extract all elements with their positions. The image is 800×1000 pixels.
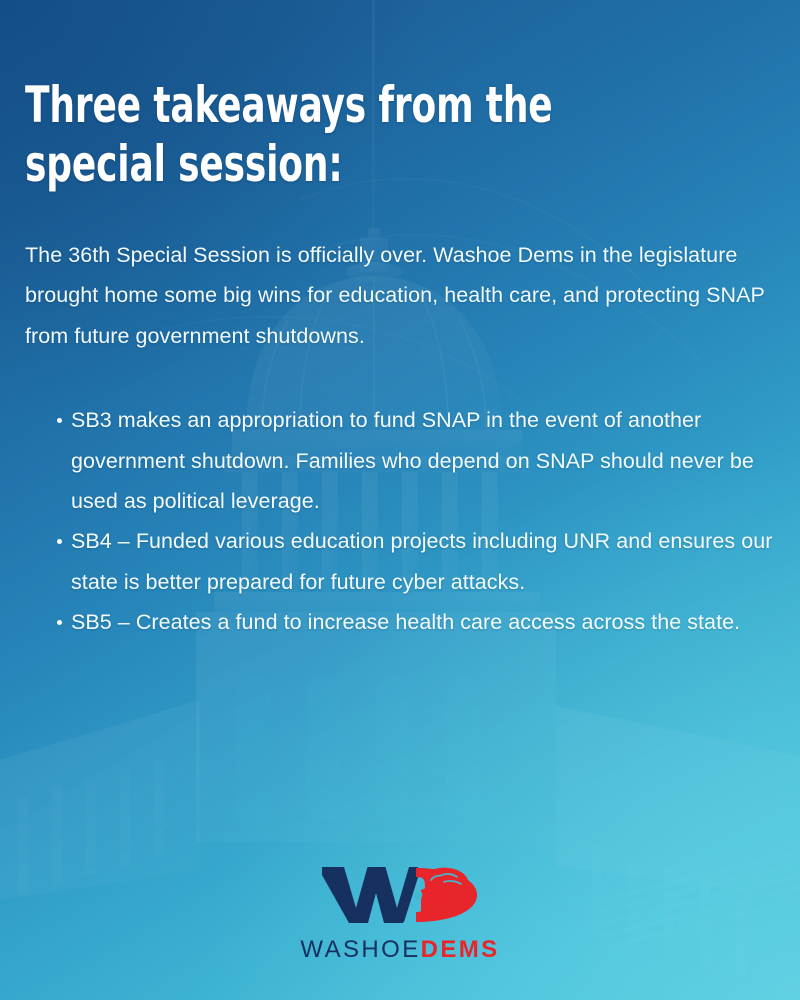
logo-wordmark-dems: DEMS <box>421 936 500 963</box>
washoe-dems-logo: WASHOEDEMS <box>0 860 800 962</box>
logo-wordmark: WASHOEDEMS <box>300 938 499 962</box>
wd-fist-icon <box>318 860 483 930</box>
poster-content: Three takeaways from the special session… <box>0 0 800 643</box>
list-item: SB3 makes an appropriation to fund SNAP … <box>25 400 775 521</box>
page-title: Three takeaways from the special session… <box>25 0 775 193</box>
takeaways-list: SB3 makes an appropriation to fund SNAP … <box>25 356 775 642</box>
list-item: SB4 – Funded various education projects … <box>25 521 775 602</box>
logo-wordmark-washoe: WASHOE <box>300 936 420 963</box>
list-item: SB5 – Creates a fund to increase health … <box>25 602 775 642</box>
intro-paragraph: The 36th Special Session is officially o… <box>25 193 775 356</box>
poster-canvas: Three takeaways from the special session… <box>0 0 800 1000</box>
